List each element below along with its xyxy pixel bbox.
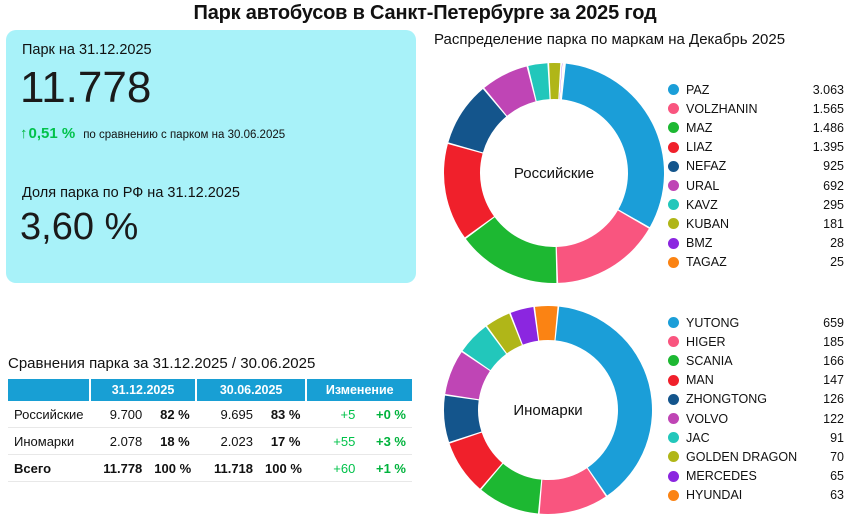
row-percent-current: 100 % bbox=[148, 455, 195, 482]
table-row: Российские9.70082 %9.69583 %+5+0 % bbox=[8, 401, 412, 428]
table-row: Всего11.778100 %11.718100 %+60+1 % bbox=[8, 455, 412, 482]
donut-slice[interactable] bbox=[549, 63, 560, 99]
legend-item-value: 295 bbox=[823, 198, 844, 212]
row-change-abs: +5 bbox=[306, 401, 361, 428]
legend-item-label: KAVZ bbox=[686, 198, 823, 212]
legend-item-value: 122 bbox=[823, 412, 844, 426]
legend-item[interactable]: MAZ1.486 bbox=[668, 118, 844, 137]
row-label: Иномарки bbox=[8, 428, 90, 455]
legend-item-label: HIGER bbox=[686, 335, 823, 349]
legend-item-value: 1.486 bbox=[813, 121, 844, 135]
donut-slice[interactable] bbox=[466, 217, 557, 283]
legend-color-dot-icon bbox=[668, 432, 679, 443]
row-percent-previous: 83 % bbox=[259, 401, 306, 428]
kpi-delta-note: по сравнению с парком на 30.06.2025 bbox=[83, 129, 285, 141]
row-value-current: 2.078 bbox=[90, 428, 148, 455]
kpi-value-share-rf: 3,60 % bbox=[20, 206, 138, 249]
donut-chart-russian: Российские bbox=[443, 62, 665, 284]
arrow-up-icon: ↑ bbox=[20, 126, 28, 141]
legend-item-value: 91 bbox=[830, 431, 844, 445]
donut-slice[interactable] bbox=[556, 307, 652, 496]
kpi-delta-row: ↑ 0,51 % по сравнению с парком на 30.06.… bbox=[20, 125, 285, 142]
row-percent-previous: 100 % bbox=[259, 455, 306, 482]
row-change-abs: +60 bbox=[306, 455, 361, 482]
row-change-pct: +0 % bbox=[361, 401, 412, 428]
row-value-previous: 9.695 bbox=[196, 401, 259, 428]
legend-item-label: BMZ bbox=[686, 236, 830, 250]
row-value-previous: 2.023 bbox=[196, 428, 259, 455]
legend-item[interactable]: GOLDEN DRAGON70 bbox=[668, 447, 844, 466]
legend-item-value: 70 bbox=[830, 450, 844, 464]
table-body: Российские9.70082 %9.69583 %+5+0 %Иномар… bbox=[8, 401, 412, 482]
legend-item-value: 147 bbox=[823, 373, 844, 387]
legend-item[interactable]: KUBAN181 bbox=[668, 214, 844, 233]
row-percent-previous: 17 % bbox=[259, 428, 306, 455]
legend-item-value: 692 bbox=[823, 179, 844, 193]
row-value-previous: 11.718 bbox=[196, 455, 259, 482]
table-col-previous: 30.06.2025 bbox=[196, 379, 307, 401]
legend-item-value: 1.565 bbox=[813, 102, 844, 116]
row-label: Всего bbox=[8, 455, 90, 482]
legend-item-value: 3.063 bbox=[813, 83, 844, 97]
legend-item[interactable]: MERCEDES65 bbox=[668, 467, 844, 486]
legend-color-dot-icon bbox=[668, 84, 679, 95]
donut-slice[interactable] bbox=[444, 144, 494, 237]
legend-item[interactable]: JAC91 bbox=[668, 428, 844, 447]
row-percent-current: 82 % bbox=[148, 401, 195, 428]
legend-foreign-brands: YUTONG659HIGER185SCANIA166MAN147ZHONGTON… bbox=[668, 313, 844, 505]
page-title: Парк автобусов в Санкт-Петербурге за 202… bbox=[0, 2, 850, 25]
legend-color-dot-icon bbox=[668, 161, 679, 172]
legend-item[interactable]: VOLZHANIN1.565 bbox=[668, 99, 844, 118]
legend-color-dot-icon bbox=[668, 471, 679, 482]
legend-item[interactable]: YUTONG659 bbox=[668, 313, 844, 332]
row-value-current: 11.778 bbox=[90, 455, 148, 482]
legend-item-label: VOLVO bbox=[686, 412, 823, 426]
legend-item-label: TAGAZ bbox=[686, 255, 830, 269]
row-change-pct: +1 % bbox=[361, 455, 412, 482]
table-row: Иномарки2.07818 %2.02317 %+55+3 % bbox=[8, 428, 412, 455]
legend-item-label: ZHONGTONG bbox=[686, 392, 823, 406]
kpi-delta-percent: 0,51 % bbox=[29, 125, 76, 142]
donut-chart-foreign: Иномарки bbox=[443, 305, 653, 515]
legend-color-dot-icon bbox=[668, 355, 679, 366]
legend-item-value: 28 bbox=[830, 236, 844, 250]
legend-color-dot-icon bbox=[668, 375, 679, 386]
legend-color-dot-icon bbox=[668, 199, 679, 210]
row-percent-current: 18 % bbox=[148, 428, 195, 455]
legend-item-value: 166 bbox=[823, 354, 844, 368]
right-panel-header: Распределение парка по маркам на Декабрь… bbox=[434, 31, 785, 48]
legend-item-value: 65 bbox=[830, 469, 844, 483]
legend-item[interactable]: NEFAZ925 bbox=[668, 157, 844, 176]
donut-chart-russian-svg bbox=[443, 62, 665, 284]
legend-item-label: URAL bbox=[686, 179, 823, 193]
table-col-blank bbox=[8, 379, 90, 401]
legend-item-value: 25 bbox=[830, 255, 844, 269]
kpi-label-share-rf: Доля парка по РФ на 31.12.2025 bbox=[22, 185, 240, 201]
legend-item[interactable]: MAN147 bbox=[668, 371, 844, 390]
kpi-label-park-date: Парк на 31.12.2025 bbox=[22, 42, 152, 58]
legend-item-label: MAZ bbox=[686, 121, 813, 135]
legend-color-dot-icon bbox=[668, 336, 679, 347]
legend-item-label: GOLDEN DRAGON bbox=[686, 450, 830, 464]
comparison-table: 31.12.2025 30.06.2025 Изменение Российск… bbox=[8, 379, 412, 482]
legend-item-value: 63 bbox=[830, 488, 844, 502]
donut-slice[interactable] bbox=[562, 64, 664, 227]
legend-item[interactable]: SCANIA166 bbox=[668, 351, 844, 370]
legend-item[interactable]: KAVZ295 bbox=[668, 195, 844, 214]
legend-color-dot-icon bbox=[668, 413, 679, 424]
row-change-pct: +3 % bbox=[361, 428, 412, 455]
legend-item[interactable]: TAGAZ25 bbox=[668, 253, 844, 272]
legend-color-dot-icon bbox=[668, 317, 679, 328]
legend-item-value: 1.395 bbox=[813, 140, 844, 154]
legend-item-label: MERCEDES bbox=[686, 469, 830, 483]
legend-color-dot-icon bbox=[668, 122, 679, 133]
donut-chart-foreign-svg bbox=[443, 305, 653, 515]
legend-item[interactable]: BMZ28 bbox=[668, 234, 844, 253]
row-value-current: 9.700 bbox=[90, 401, 148, 428]
legend-color-dot-icon bbox=[668, 180, 679, 191]
table-col-change: Изменение bbox=[306, 379, 412, 401]
legend-item-label: YUTONG bbox=[686, 316, 823, 330]
kpi-value-park-total: 11.778 bbox=[20, 63, 151, 113]
legend-item[interactable]: VOLVO122 bbox=[668, 409, 844, 428]
legend-item-label: MAN bbox=[686, 373, 823, 387]
legend-russian-brands: PAZ3.063VOLZHANIN1.565MAZ1.486LIAZ1.395N… bbox=[668, 80, 844, 272]
legend-item-label: VOLZHANIN bbox=[686, 102, 813, 116]
legend-item[interactable]: ZHONGTONG126 bbox=[668, 390, 844, 409]
legend-color-dot-icon bbox=[668, 490, 679, 501]
legend-color-dot-icon bbox=[668, 257, 679, 268]
legend-item[interactable]: URAL692 bbox=[668, 176, 844, 195]
legend-item-value: 925 bbox=[823, 159, 844, 173]
row-label: Российские bbox=[8, 401, 90, 428]
legend-item-value: 659 bbox=[823, 316, 844, 330]
legend-item-value: 185 bbox=[823, 335, 844, 349]
donut-slice[interactable] bbox=[535, 306, 558, 341]
kpi-card: Парк на 31.12.2025 11.778 ↑ 0,51 % по ср… bbox=[6, 30, 416, 283]
legend-color-dot-icon bbox=[668, 451, 679, 462]
table-col-current: 31.12.2025 bbox=[90, 379, 195, 401]
legend-item[interactable]: HIGER185 bbox=[668, 332, 844, 351]
legend-color-dot-icon bbox=[668, 142, 679, 153]
legend-item-label: KUBAN bbox=[686, 217, 823, 231]
dashboard-root: Парк автобусов в Санкт-Петербурге за 202… bbox=[0, 0, 850, 517]
legend-item-label: JAC bbox=[686, 431, 830, 445]
legend-item-label: NEFAZ bbox=[686, 159, 823, 173]
legend-item-value: 126 bbox=[823, 392, 844, 406]
legend-item-label: LIAZ bbox=[686, 140, 813, 154]
legend-color-dot-icon bbox=[668, 238, 679, 249]
legend-item[interactable]: HYUNDAI63 bbox=[668, 486, 844, 505]
legend-color-dot-icon bbox=[668, 394, 679, 405]
table-header-row: 31.12.2025 30.06.2025 Изменение bbox=[8, 379, 412, 401]
legend-color-dot-icon bbox=[668, 103, 679, 114]
legend-item-label: PAZ bbox=[686, 83, 813, 97]
legend-item-label: SCANIA bbox=[686, 354, 823, 368]
legend-item-value: 181 bbox=[823, 217, 844, 231]
legend-item[interactable]: LIAZ1.395 bbox=[668, 138, 844, 157]
donut-slice[interactable] bbox=[557, 210, 649, 282]
row-change-abs: +55 bbox=[306, 428, 361, 455]
legend-color-dot-icon bbox=[668, 218, 679, 229]
legend-item[interactable]: PAZ3.063 bbox=[668, 80, 844, 99]
legend-item-label: HYUNDAI bbox=[686, 488, 830, 502]
comparison-table-title: Сравнения парка за 31.12.2025 / 30.06.20… bbox=[8, 355, 315, 372]
